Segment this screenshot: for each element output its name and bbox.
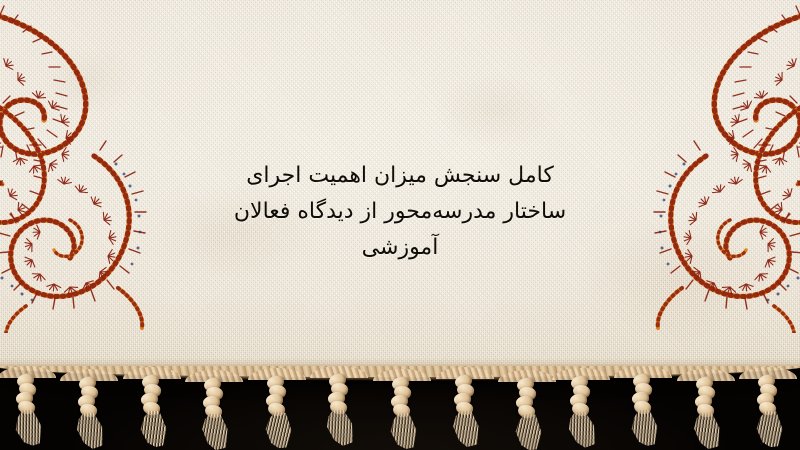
tassel bbox=[452, 369, 478, 449]
tassel-brush bbox=[629, 410, 658, 447]
tassel-brush bbox=[693, 413, 722, 449]
tassel bbox=[755, 369, 781, 449]
tassel-brush bbox=[754, 410, 784, 448]
tassel-brush bbox=[512, 413, 543, 450]
tassel bbox=[76, 371, 102, 450]
tassel bbox=[264, 370, 290, 450]
tassel-brush bbox=[12, 409, 44, 448]
tassel bbox=[326, 368, 352, 448]
tassel-brush bbox=[75, 412, 105, 449]
tassel-fringe bbox=[0, 368, 800, 450]
tassel bbox=[514, 372, 540, 450]
slide-canvas: کامل سنجش میزان اهمیت اجرای ساختار مدرسه… bbox=[0, 0, 800, 450]
tassel bbox=[630, 368, 656, 448]
title-line-1: کامل سنجش میزان اهمیت اجرای bbox=[0, 158, 800, 194]
tassel-brush bbox=[389, 413, 418, 449]
tassel-brush bbox=[200, 413, 230, 450]
title-line-2: ساختار مدرسه‌محور از دیدگاه فعالان bbox=[0, 194, 800, 230]
tassel bbox=[201, 372, 227, 450]
tassel-brush bbox=[262, 411, 294, 450]
tassel-brush bbox=[451, 411, 480, 448]
tassel bbox=[139, 369, 165, 449]
tassel bbox=[568, 370, 594, 450]
tassel-brush bbox=[139, 411, 167, 447]
slide-title: کامل سنجش میزان اهمیت اجرای ساختار مدرسه… bbox=[0, 158, 800, 266]
tassel bbox=[693, 371, 719, 450]
tassel-brush bbox=[325, 409, 355, 447]
tassel-brush bbox=[566, 411, 597, 449]
tassel bbox=[14, 368, 40, 448]
tassel bbox=[389, 371, 415, 450]
title-line-3: آموزشی bbox=[0, 230, 800, 266]
